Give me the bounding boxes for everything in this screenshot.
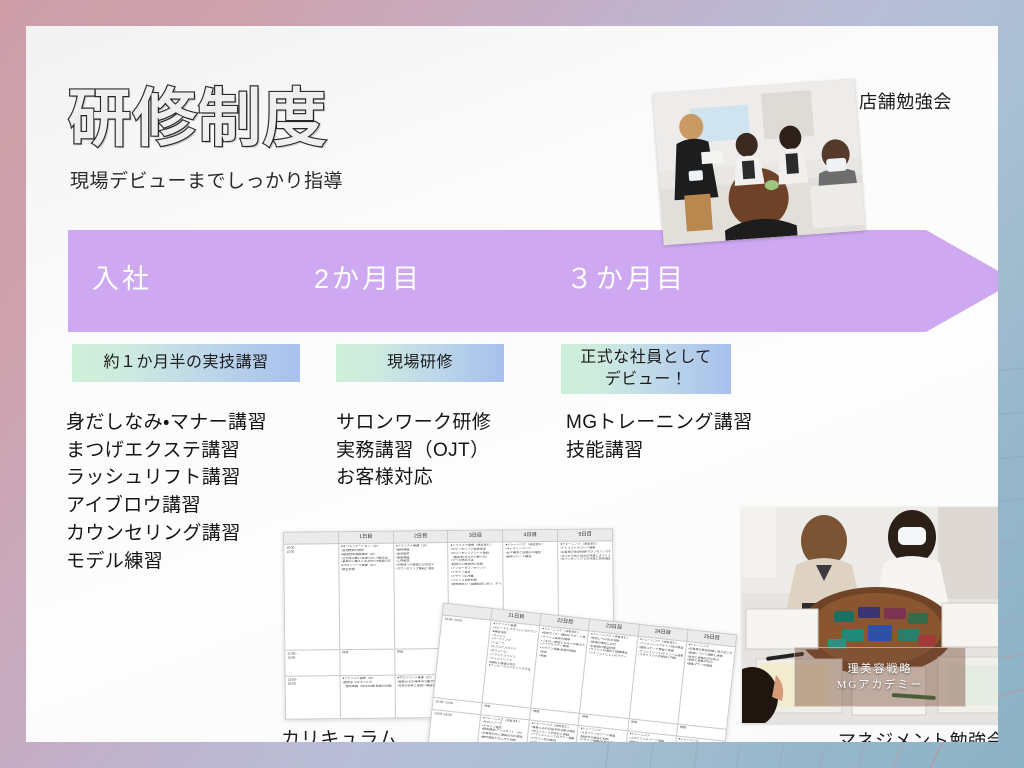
slide-card: 研修制度 現場デビューまでしっかり指導 入社 2か月目 ３か月目 約１か月半の実…	[26, 26, 998, 742]
photo-management-study: 理美容戦略 MGアカデミー	[742, 507, 998, 723]
watermark-line-1: 理美容戦略	[848, 661, 913, 678]
curriculum-cell: ●トレーニング（演習含む）・アイラッシュデザイン別の練習・施術スピード練習と実践…	[629, 636, 687, 724]
timeline-milestone-0: 入社	[92, 257, 152, 296]
phase-item: まつげエクステ講習	[66, 437, 267, 465]
curriculum-col-header: 4日目	[503, 529, 558, 542]
phase-item: カウンセリング講習	[66, 520, 267, 548]
curriculum-time-cell: 10:00~12:00	[284, 544, 340, 651]
curriculum-time-cell: 13:00~18:00	[427, 709, 481, 742]
timeline-milestone-1: 2か月目	[314, 257, 422, 296]
curriculum-col-header	[284, 532, 339, 545]
timeline-arrow	[68, 230, 998, 332]
phase-item: ラッシュリフト講習	[66, 464, 267, 492]
phase-item: サロンワーク研修	[336, 409, 491, 437]
curriculum-caption: カリキュラム	[281, 724, 398, 742]
curriculum-time-cell: 12:00~13:00	[285, 650, 340, 676]
curriculum-cell: ●アイリスト基礎・スピードとクオリティのバランス●練習項目・ラッシュ・コーティン…	[482, 620, 540, 708]
curriculum-cell: 休憩	[340, 649, 395, 675]
photo-watermark: 理美容戦略 MGアカデミー	[794, 647, 966, 707]
curriculum-cell: ●オリエンテーション（1h）・会社概要の説明●接客技術基礎講習（1h）・立ち振る…	[338, 543, 394, 650]
curriculum-col-header: 5日目	[558, 529, 613, 542]
curriculum-col-header: 2日目	[393, 531, 448, 544]
curriculum-col-header: 3日目	[448, 530, 503, 543]
curriculum-cell: ●トレーニング（演習含む）・技術レベル別の判断・接遇の確認と応対・お客様の要望把…	[580, 631, 638, 719]
phase-badge-2-line-0: 正式な社員として	[580, 347, 712, 369]
page-subtitle: 現場デビューまでしっかり指導	[70, 166, 343, 193]
slide-canvas: 研修制度 現場デビューまでしっかり指導 入社 2か月目 ３か月目 約１か月半の実…	[0, 0, 1024, 768]
phase-badge-2: 正式な社員として デビュー！	[561, 344, 731, 394]
phase-item: アイブロウ講習	[66, 492, 267, 520]
timeline-milestone-2: ３か月目	[566, 257, 686, 296]
phase-item: モデル練習	[66, 548, 267, 576]
curriculum-time-cell: 13:00~18:00	[285, 676, 340, 720]
phase-badge-2-line-1: デビュー！	[580, 369, 712, 391]
phase-items-1: サロンワーク研修 実務講習（OJT） お客様対応	[336, 409, 491, 492]
curriculum-cell: ●アイリスト基礎（2h）・施術用 マネキンとの 施術準備（用具・位置・目線の位置…	[340, 675, 395, 719]
phase-item: 身だしなみ・マナー講習	[66, 409, 267, 437]
photo-management-study-caption: マネジメント勉強会	[838, 727, 998, 742]
phase-item: 実務講習（OJT）	[336, 437, 491, 465]
photo-store-study-caption: 店舗勉強会	[859, 88, 952, 114]
photo-store-study	[653, 79, 866, 245]
page-title: 研修制度	[68, 88, 328, 151]
phase-items-2: MGトレーニング講習 技能講習	[566, 409, 753, 464]
curriculum-table-b: 21日目22日目23日目24日目25日目10:00~12:00●アイリスト基礎・…	[427, 602, 738, 742]
curriculum-col-header: 1日目	[338, 531, 393, 544]
curriculum-cell: ●トレーニング・お客様の要望把握と向き合い方・接遇について理解と実践・技術と接客…	[678, 641, 736, 729]
curriculum-cell: ●トレーニング（演習含む）・技術セミナー講師のサポート練習・ラッシュ装着の順番・…	[531, 626, 589, 714]
phase-items-0: 身だしなみ・マナー講習 まつげエクステ講習 ラッシュリフト講習 アイブロウ講習 …	[66, 409, 267, 575]
curriculum-time-cell: 10:00~12:00	[433, 615, 491, 703]
phase-item: お客様対応	[336, 464, 491, 492]
phase-badge-0: 約１か月半の実技講習	[72, 344, 300, 382]
phase-item: MGトレーニング講習	[566, 409, 753, 437]
phase-item: 技能講習	[566, 437, 753, 465]
phase-badge-1: 現場研修	[336, 344, 504, 382]
curriculum-cell: ●トレーニング（演習含む）・サロンワーク・デザイン選定・施術練習・アシスタント（…	[476, 715, 530, 742]
watermark-line-2: MGアカデミー	[837, 677, 924, 694]
curriculum-sheet-back: 21日目22日目23日目24日目25日目10:00~12:00●アイリスト基礎・…	[427, 602, 738, 742]
